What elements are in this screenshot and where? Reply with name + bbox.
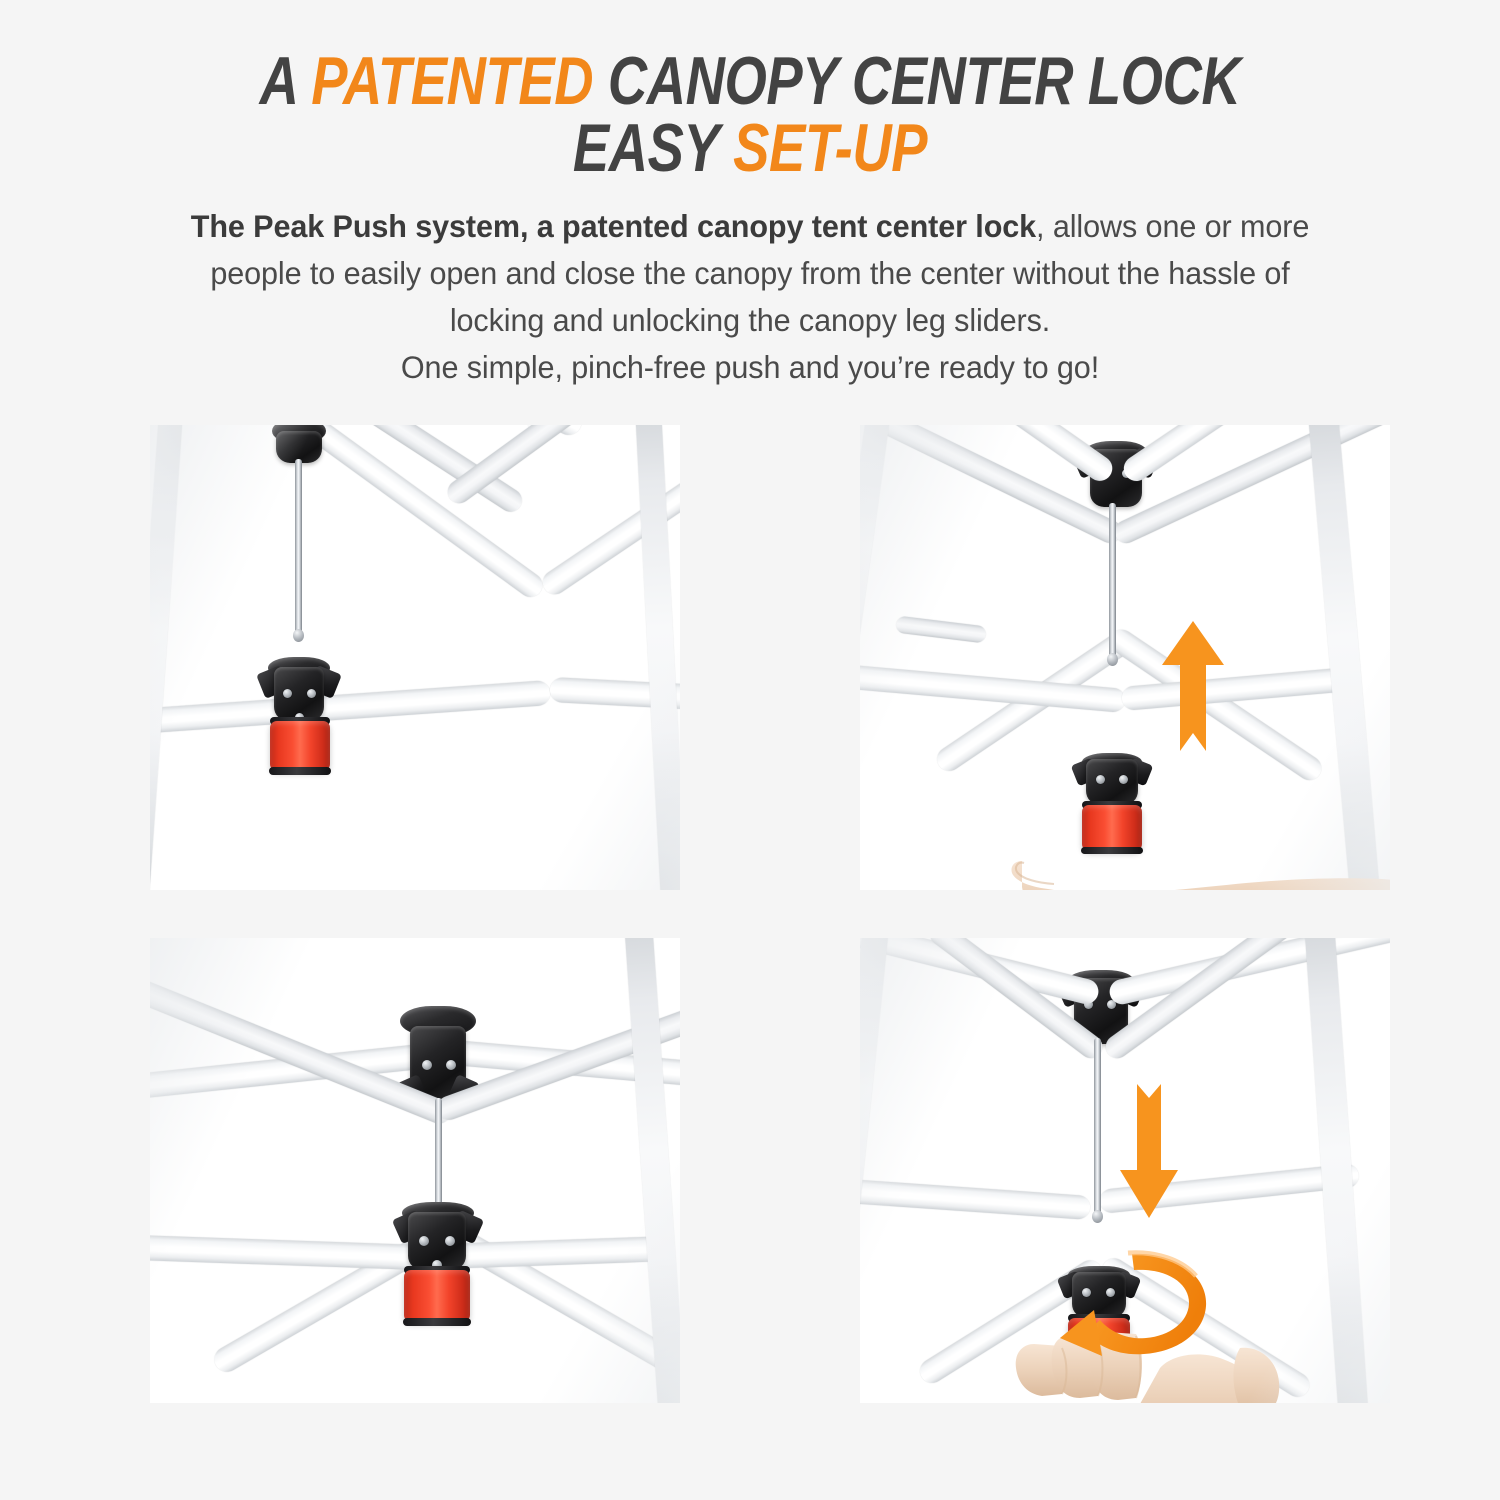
center-lock-screw xyxy=(1096,775,1105,784)
red-lock-collar xyxy=(270,721,330,771)
push-rod xyxy=(1109,503,1116,658)
description-line-4: One simple, pinch-free push and you’re r… xyxy=(120,344,1381,391)
description-line-1: The Peak Push system, a patented canopy … xyxy=(120,203,1381,250)
eave-tube xyxy=(150,680,551,735)
center-lock-screw xyxy=(419,1236,429,1246)
peak-hub-screw xyxy=(422,1060,432,1070)
panel-locked-closed xyxy=(150,938,680,1403)
strut-tube xyxy=(895,616,986,644)
headline-line-1: A PATENTED CANOPY CENTER LOCK xyxy=(150,48,1350,115)
arrow-up-icon xyxy=(1160,621,1226,751)
panel-twist-down xyxy=(860,938,1390,1403)
page-title: A PATENTED CANOPY CENTER LOCK EASY SET-U… xyxy=(0,48,1500,181)
arrow-down-icon xyxy=(1118,1066,1180,1218)
lock-collar-bottom-rim xyxy=(403,1318,471,1326)
lock-collar-bottom-rim xyxy=(269,767,331,775)
headline-text-b: CANOPY CENTER LOCK xyxy=(593,43,1240,119)
leg-tube xyxy=(860,938,891,1308)
push-rod xyxy=(435,1098,442,1210)
center-lock-screw xyxy=(1119,775,1128,784)
center-lock-screw xyxy=(307,689,316,698)
photo-stage xyxy=(150,425,680,890)
panel-push-up xyxy=(860,425,1390,890)
center-lock-screw xyxy=(445,1236,455,1246)
hand-open-palm xyxy=(1010,817,1390,890)
eave-tube xyxy=(860,1177,1091,1220)
headline-highlight-patented: PATENTED xyxy=(311,43,593,119)
push-rod xyxy=(1094,1038,1101,1216)
headline-highlight-setup: SET-UP xyxy=(733,110,927,186)
description-paragraph: The Peak Push system, a patented canopy … xyxy=(100,203,1400,391)
description-line-2: people to easily open and close the cano… xyxy=(120,250,1381,297)
push-rod-tip xyxy=(1092,1210,1103,1223)
description-bold-lead: The Peak Push system, a patented canopy … xyxy=(191,208,1036,244)
infographic-page: A PATENTED CANOPY CENTER LOCK EASY SET-U… xyxy=(0,0,1500,1500)
leg-tube xyxy=(150,425,184,890)
description-line-3: locking and unlocking the canopy leg sli… xyxy=(120,297,1381,344)
description-line-1-rest: , allows one or more xyxy=(1036,208,1309,244)
push-rod-tip xyxy=(293,629,304,642)
headline-line-2: EASY SET-UP xyxy=(150,115,1350,182)
product-photo-grid xyxy=(0,425,1500,1445)
photo-stage xyxy=(860,938,1390,1403)
headline-text-a: A xyxy=(260,43,312,119)
arrow-rotate-icon xyxy=(1036,1248,1216,1368)
red-lock-collar xyxy=(404,1270,470,1322)
headline-text-c: EASY xyxy=(573,110,733,186)
center-lock-bracket xyxy=(1086,759,1138,805)
peak-hub-screw xyxy=(446,1060,456,1070)
push-rod-tip xyxy=(1107,653,1118,666)
panel-unlocked-extended xyxy=(150,425,680,890)
center-lock-screw xyxy=(283,689,292,698)
photo-stage xyxy=(860,425,1390,890)
photo-stage xyxy=(150,938,680,1403)
push-rod xyxy=(295,459,302,634)
